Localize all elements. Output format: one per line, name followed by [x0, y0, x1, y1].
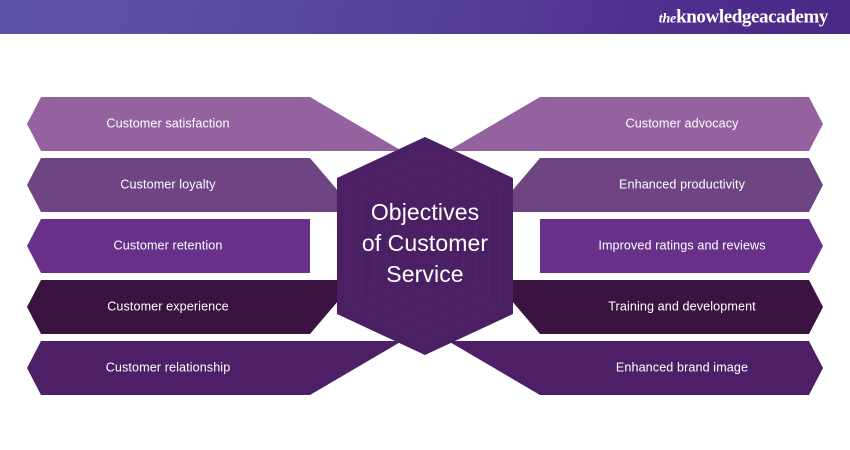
- left-bar-label-1: Customer satisfaction: [106, 116, 229, 130]
- right-bar-label-4: Training and development: [608, 299, 756, 313]
- left-bar-label-5: Customer relationship: [106, 360, 231, 374]
- center-title-line-1: Objectives: [371, 199, 479, 225]
- right-bar-label-3: Improved ratings and reviews: [598, 238, 765, 252]
- brand-logo-name: knowledgeacademy: [676, 7, 828, 28]
- header-bar: theknowledgeacademy: [0, 0, 850, 34]
- right-bar-label-1: Customer advocacy: [626, 116, 740, 130]
- brand-logo-prefix: the: [659, 12, 676, 27]
- right-bar-label-5: Enhanced brand image: [616, 360, 748, 374]
- brand-logo: theknowledgeacademy: [659, 8, 828, 27]
- left-bar-label-2: Customer loyalty: [120, 177, 216, 191]
- infographic-canvas: theknowledgeacademy Customer satisfactio…: [0, 0, 850, 450]
- left-bar-label-4: Customer experience: [107, 299, 229, 313]
- diagram-stage: Customer satisfactionCustomer loyaltyCus…: [0, 34, 850, 450]
- left-bar-label-3: Customer retention: [114, 238, 223, 252]
- center-title-line-2: of Customer: [362, 230, 489, 256]
- right-bar-label-2: Enhanced productivity: [619, 177, 746, 191]
- center-title-line-3: Service: [386, 261, 463, 287]
- center-hexagon: Objectivesof CustomerService: [337, 137, 513, 355]
- objectives-diagram: Customer satisfactionCustomer loyaltyCus…: [0, 34, 850, 450]
